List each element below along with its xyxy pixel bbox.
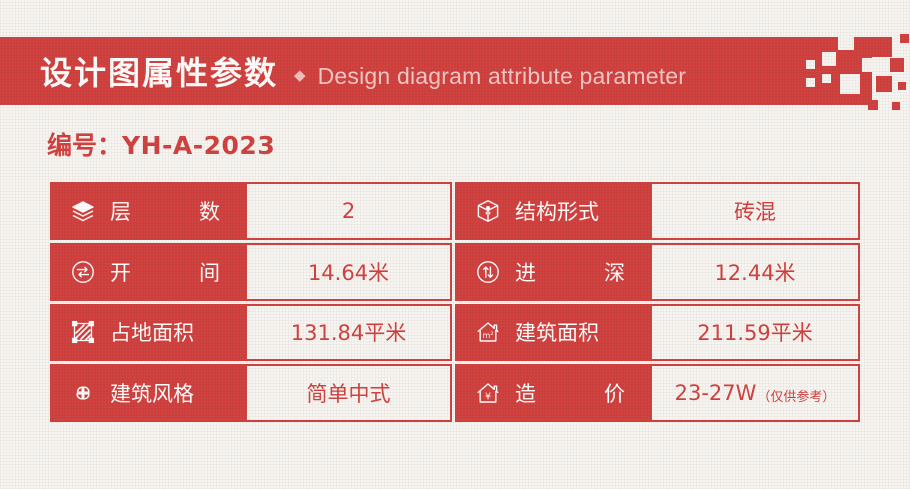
svg-text:¥: ¥: [485, 392, 491, 403]
svg-text:m²: m²: [482, 331, 493, 341]
spec-label-text: 结构形式: [515, 196, 599, 226]
table-row: 开间 14.64米 进深 12.44米: [50, 243, 860, 301]
spec-label-text: 进深: [515, 257, 633, 287]
spec-label-style: 建筑风格: [50, 364, 245, 422]
spec-value-land-area: 131.84平米: [245, 304, 452, 362]
cube-icon: [475, 198, 501, 224]
layers-icon: [70, 198, 96, 224]
table-row: 占地面积 131.84平米 m² 建筑面积 211.59平米: [50, 304, 860, 362]
diamond-separator-icon: ◆: [294, 66, 306, 84]
table-row: 建筑风格 简单中式 ¥ 造价 23-27W（仅供参考）: [50, 364, 860, 422]
drawing-number: 编号：YH-A-2023: [47, 126, 275, 162]
spec-value-depth: 12.44米: [650, 243, 860, 301]
house-yuan-icon: ¥: [475, 380, 501, 406]
spec-value-cost-note: （仅供参考）: [757, 386, 835, 405]
spec-label-cost: ¥ 造价: [455, 364, 650, 422]
spec-value-structure: 砖混: [650, 182, 860, 240]
pixel-mosaic-decoration: [800, 30, 910, 112]
spec-value-floors: 2: [245, 182, 452, 240]
spec-value-floor-area: 211.59平米: [650, 304, 860, 362]
spec-label-text: 建筑风格: [110, 378, 194, 408]
spec-value-style: 简单中式: [245, 364, 452, 422]
spec-label-text: 造价: [515, 378, 633, 408]
banner-title-group: 设计图属性参数 ◆ Design diagram attribute param…: [0, 48, 686, 94]
page-subtitle: Design diagram attribute parameter: [318, 63, 687, 90]
table-row: 层数 2 结构形式 砖混: [50, 182, 860, 240]
drawing-number-value: YH-A-2023: [122, 131, 275, 160]
drawing-number-label: 编号：: [47, 131, 122, 160]
spec-value-cost: 23-27W（仅供参考）: [650, 364, 860, 422]
spec-table: 层数 2 结构形式 砖混: [50, 182, 860, 422]
four-petal-icon: [70, 380, 96, 406]
spec-label-floors: 层数: [50, 182, 245, 240]
vertical-arrows-circle-icon: [475, 259, 501, 285]
spec-label-floor-area: m² 建筑面积: [455, 304, 650, 362]
page-title: 设计图属性参数: [40, 48, 278, 94]
spec-label-text: 开间: [110, 257, 228, 287]
horizontal-arrows-circle-icon: [70, 259, 96, 285]
spec-label-depth: 进深: [455, 243, 650, 301]
hatched-area-icon: [70, 319, 96, 345]
spec-label-land-area: 占地面积: [50, 304, 245, 362]
spec-label-width: 开间: [50, 243, 245, 301]
house-sqm-icon: m²: [475, 319, 501, 345]
header-banner: 设计图属性参数 ◆ Design diagram attribute param…: [0, 37, 872, 105]
spec-label-text: 层数: [110, 196, 228, 226]
spec-label-text: 占地面积: [110, 317, 194, 347]
spec-label-text: 建筑面积: [515, 317, 599, 347]
spec-label-structure: 结构形式: [455, 182, 650, 240]
spec-value-width: 14.64米: [245, 243, 452, 301]
spec-value-cost-amount: 23-27W: [675, 381, 757, 405]
